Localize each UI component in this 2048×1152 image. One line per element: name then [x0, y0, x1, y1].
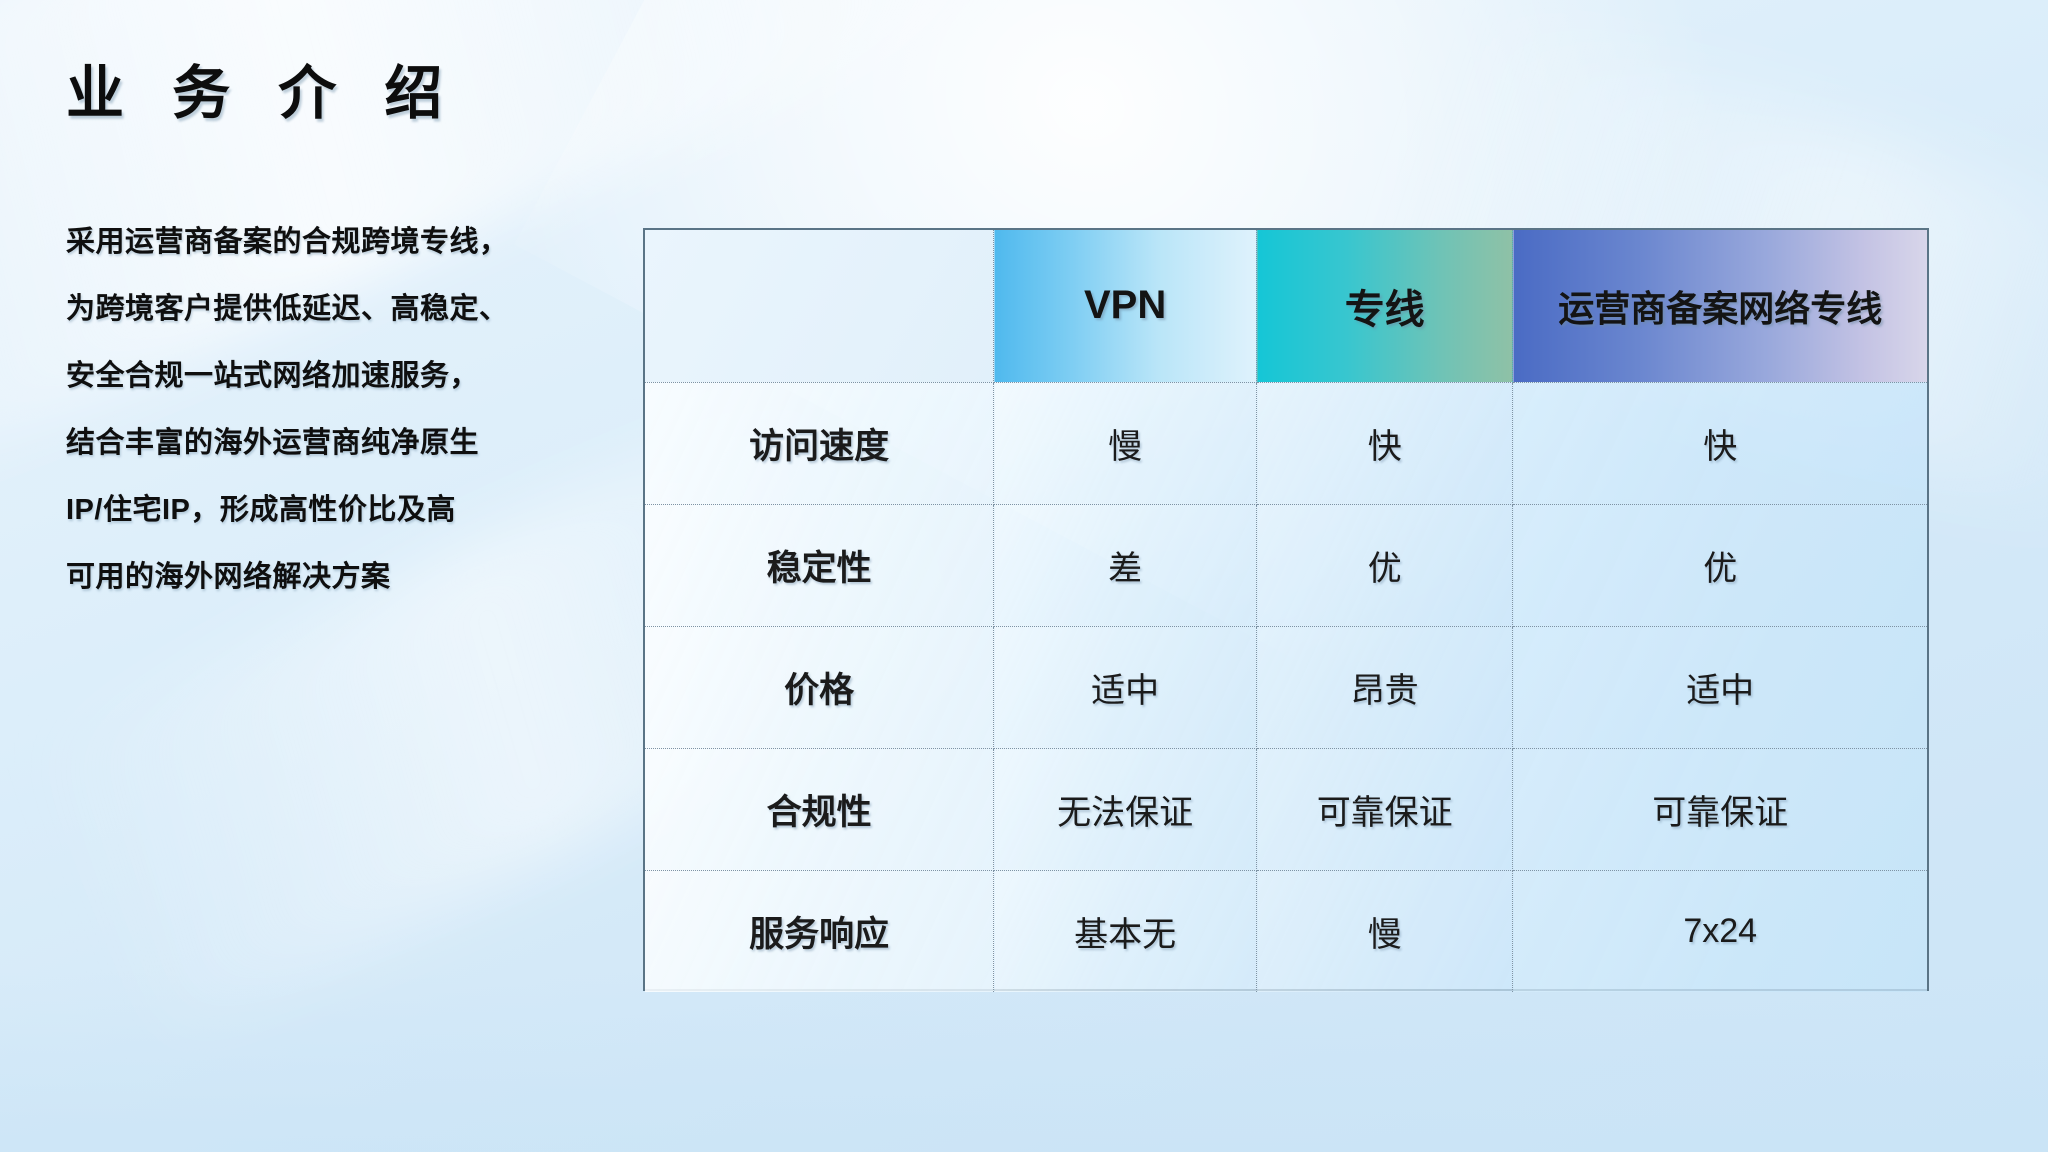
table-body: 访问速度 慢 快 快 稳定性 差 优 优 价格 适中 昂贵 适中 [645, 382, 1927, 992]
cell-carrier-compliance: 可靠保证 [1513, 748, 1927, 870]
table-row: 服务响应 基本无 慢 7x24 [645, 870, 1927, 992]
intro-line: 为跨境客户提供低延迟、高稳定、 [66, 295, 626, 324]
row-label-access-speed: 访问速度 [645, 382, 994, 504]
table-row: 访问速度 慢 快 快 [645, 382, 1927, 504]
table-row: 价格 适中 昂贵 适中 [645, 626, 1927, 748]
cell-carrier-access-speed: 快 [1513, 382, 1927, 504]
cell-vpn-stability: 差 [994, 504, 1257, 626]
row-label-compliance: 合规性 [645, 748, 994, 870]
cell-line-compliance: 可靠保证 [1257, 748, 1513, 870]
intro-paragraph: 采用运营商备案的合规跨境专线， 为跨境客户提供低延迟、高稳定、 安全合规一站式网… [66, 228, 626, 592]
table-row: 稳定性 差 优 优 [645, 504, 1927, 626]
cell-line-price: 昂贵 [1257, 626, 1513, 748]
table-header-blank [645, 230, 994, 382]
comparison-table-grid: VPN 专线 运营商备案网络专线 访问速度 慢 快 快 稳定性 差 优 优 [645, 230, 1927, 992]
cell-vpn-compliance: 无法保证 [994, 748, 1257, 870]
page-title: 业 务 介 绍 [66, 62, 458, 126]
table-head: VPN 专线 运营商备案网络专线 [645, 230, 1927, 382]
table-header-carrier-line: 运营商备案网络专线 [1513, 230, 1927, 382]
intro-line: 结合丰富的海外运营商纯净原生 [66, 429, 626, 458]
cell-carrier-stability: 优 [1513, 504, 1927, 626]
comparison-table: VPN 专线 运营商备案网络专线 访问速度 慢 快 快 稳定性 差 优 优 [643, 228, 1929, 991]
table-header-dedicated-line: 专线 [1257, 230, 1513, 382]
row-label-price: 价格 [645, 626, 994, 748]
cell-vpn-price: 适中 [994, 626, 1257, 748]
row-label-service-response: 服务响应 [645, 870, 994, 992]
background-bottom-band [0, 972, 2048, 1152]
cell-vpn-access-speed: 慢 [994, 382, 1257, 504]
cell-line-service-response: 慢 [1257, 870, 1513, 992]
table-row: 合规性 无法保证 可靠保证 可靠保证 [645, 748, 1927, 870]
cell-line-access-speed: 快 [1257, 382, 1513, 504]
cell-line-stability: 优 [1257, 504, 1513, 626]
table-header-vpn: VPN [994, 230, 1257, 382]
table-header-row: VPN 专线 运营商备案网络专线 [645, 230, 1927, 382]
intro-line: 采用运营商备案的合规跨境专线， [66, 228, 626, 257]
cell-vpn-service-response: 基本无 [994, 870, 1257, 992]
intro-line: 可用的海外网络解决方案 [66, 563, 626, 592]
intro-line: 安全合规一站式网络加速服务， [66, 362, 626, 391]
intro-line: IP/住宅IP，形成高性价比及高 [66, 496, 626, 525]
row-label-stability: 稳定性 [645, 504, 994, 626]
cell-carrier-service-response: 7x24 [1513, 870, 1927, 992]
cell-carrier-price: 适中 [1513, 626, 1927, 748]
slide-canvas: 业 务 介 绍 采用运营商备案的合规跨境专线， 为跨境客户提供低延迟、高稳定、 … [0, 0, 2048, 1152]
